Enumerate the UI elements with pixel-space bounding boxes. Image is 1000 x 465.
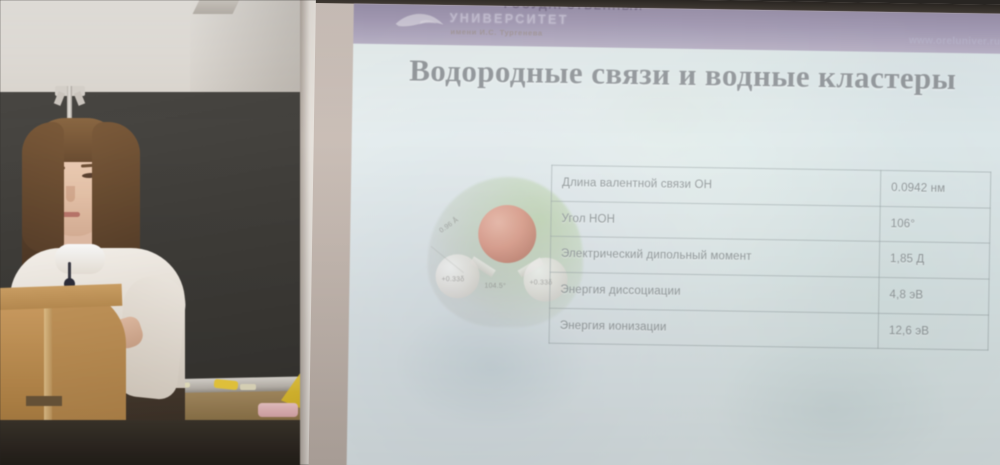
property-name: Длина валентной связи ОН bbox=[551, 165, 881, 206]
presenter-hair-left bbox=[22, 122, 64, 252]
university-website: www.oreluniver.ru bbox=[909, 35, 1000, 47]
podium-top bbox=[0, 284, 122, 311]
eagle-emblem-icon bbox=[393, 8, 445, 33]
property-value: 12,6 эВ bbox=[878, 313, 988, 350]
property-name: Электрический дипольный момент bbox=[550, 236, 880, 277]
property-name: Энергия диссоциации bbox=[550, 272, 880, 313]
presenter-nose bbox=[66, 186, 75, 202]
property-name: Энергия ионизации bbox=[549, 308, 879, 349]
university-name: УНИВЕРСИТЕТ bbox=[450, 11, 569, 27]
property-name: Угол НОН bbox=[551, 201, 881, 242]
hydrogen-charge-label-left: +0.33δ bbox=[441, 276, 464, 283]
property-value: 106° bbox=[880, 206, 990, 243]
table-row: Энергия ионизации 12,6 эВ bbox=[549, 308, 989, 351]
university-subtitle: имени И.С. Тургенева bbox=[450, 27, 542, 37]
property-value: 0.0942 нм bbox=[880, 170, 990, 207]
desk-object bbox=[258, 403, 298, 417]
ceiling-beam bbox=[193, 0, 240, 14]
presentation-slide: ГОСУДАРСТВЕННЫЙ УНИВЕРСИТЕТ имени И.С. Т… bbox=[347, 4, 1000, 465]
property-value: 1,85 Д bbox=[879, 242, 989, 279]
water-properties-table: Длина валентной связи ОН 0.0942 нм Угол … bbox=[549, 165, 992, 351]
lecture-room-photo bbox=[0, 0, 340, 465]
slide-title: Водородные связи и водные кластеры bbox=[392, 50, 973, 100]
property-value: 4,8 эВ bbox=[879, 277, 989, 314]
screenshot-root: ГОСУДАРСТВЕННЫЙ УНИВЕРСИТЕТ имени И.С. Т… bbox=[0, 0, 1000, 465]
presenter-collar bbox=[55, 244, 105, 274]
bond-angle-label: 104.5° bbox=[484, 283, 506, 290]
floor bbox=[0, 420, 320, 465]
projector-bracket-rod bbox=[67, 86, 72, 118]
projection-screen: ГОСУДАРСТВЕННЫЙ УНИВЕРСИТЕТ имени И.С. Т… bbox=[308, 0, 1000, 465]
chalk-piece bbox=[240, 384, 256, 390]
podium-shelf bbox=[26, 396, 62, 406]
